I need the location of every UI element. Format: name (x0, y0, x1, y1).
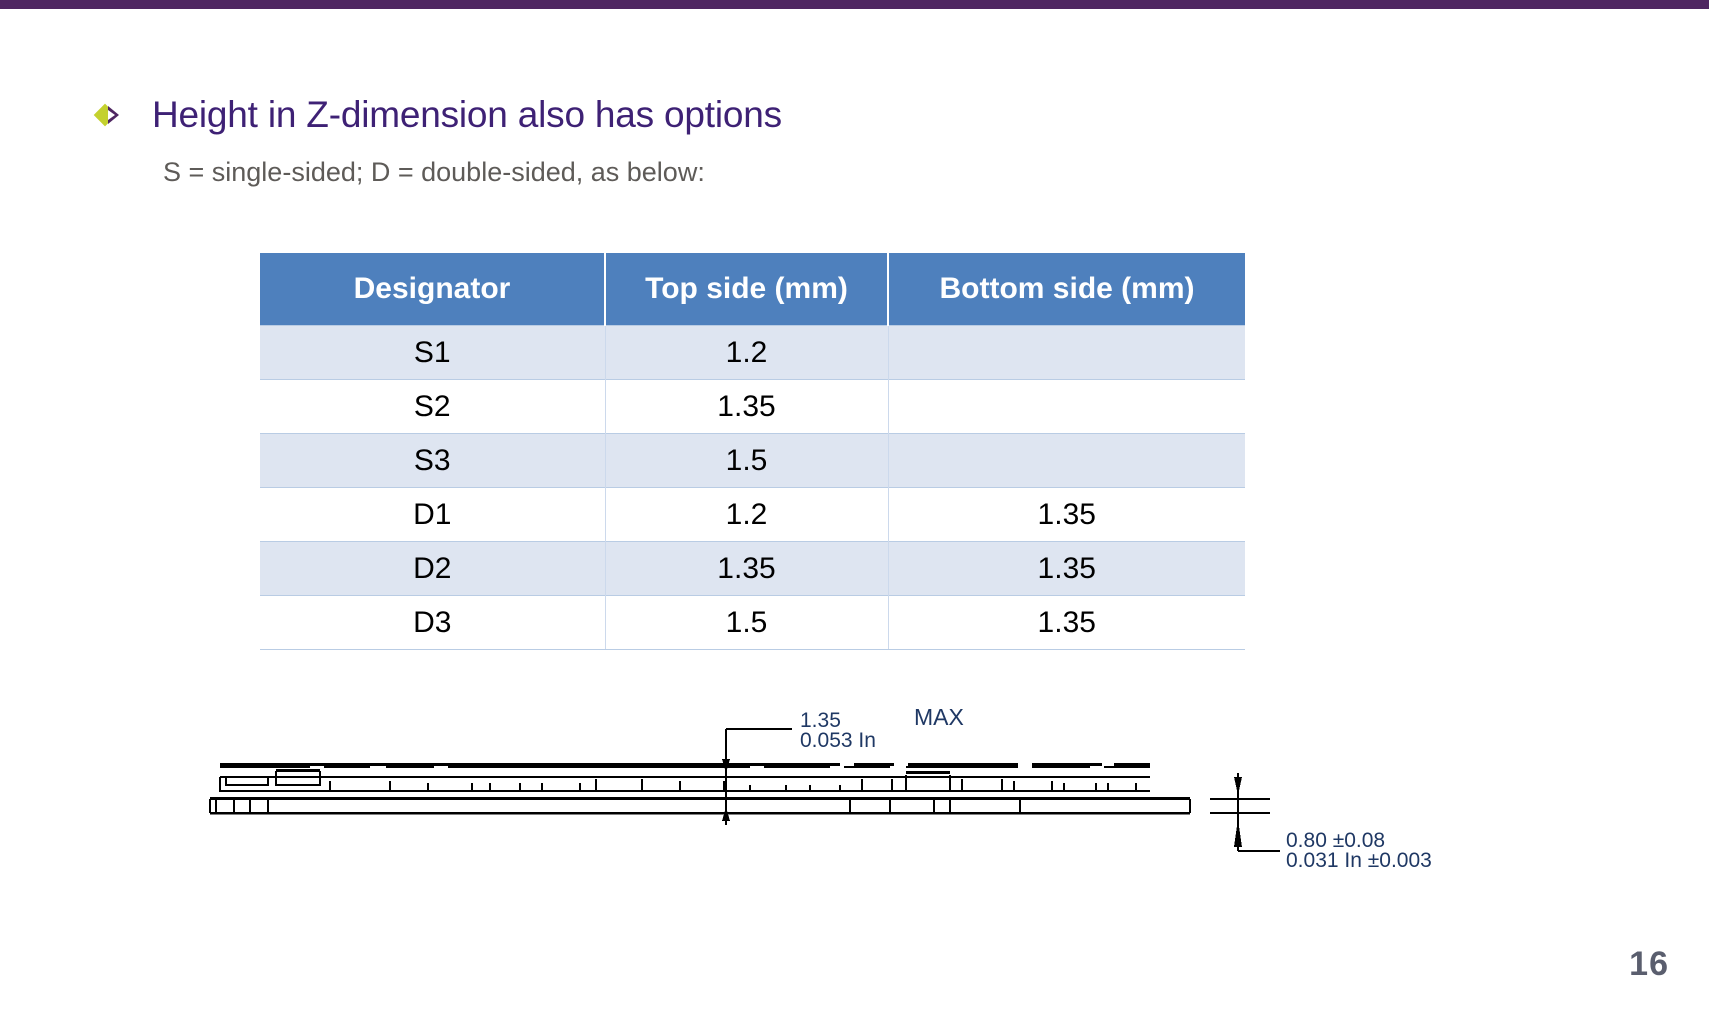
cell-designator: S2 (260, 380, 605, 434)
column-header-bottom-side: Bottom side (mm) (888, 253, 1245, 326)
cell-designator: D2 (260, 542, 605, 596)
cell-designator: S1 (260, 326, 605, 380)
board-thickness-callout-text: 0.80 ±0.08 0.031 In ±0.003 (1286, 829, 1432, 872)
cell-top-side: 1.5 (605, 596, 888, 650)
cell-designator: S3 (260, 434, 605, 488)
cell-designator: D1 (260, 488, 605, 542)
table-row: D1 1.2 1.35 (260, 488, 1245, 542)
height-options-table: Designator Top side (mm) Bottom side (mm… (260, 253, 1245, 650)
column-header-top-side: Top side (mm) (605, 253, 888, 326)
cell-top-side: 1.2 (605, 326, 888, 380)
cell-top-side: 1.35 (605, 542, 888, 596)
cell-top-side: 1.5 (605, 434, 888, 488)
column-header-designator: Designator (260, 253, 605, 326)
table-row: D2 1.35 1.35 (260, 542, 1245, 596)
slide-subtitle: S = single-sided; D = double-sided, as b… (163, 157, 705, 188)
table-header-row: Designator Top side (mm) Bottom side (mm… (260, 253, 1245, 326)
cell-top-side: 1.2 (605, 488, 888, 542)
table-row: S2 1.35 (260, 380, 1245, 434)
table-row: S1 1.2 (260, 326, 1245, 380)
cell-bottom-side: 1.35 (888, 596, 1245, 650)
cell-bottom-side: 1.35 (888, 488, 1245, 542)
cell-top-side: 1.35 (605, 380, 888, 434)
pcb-cross-section-drawing: 1.35 0.053 In MAX 0.80 ±0.08 0.031 In ±0… (190, 699, 1440, 879)
top-height-callout-text: 1.35 0.053 In MAX (800, 704, 964, 752)
slide-title-row: Height in Z-dimension also has options (96, 94, 782, 136)
page-number: 16 (1629, 945, 1669, 984)
svg-text:0.031 In ±0.003: 0.031 In ±0.003 (1286, 849, 1432, 872)
page-title: Height in Z-dimension also has options (152, 94, 782, 136)
cell-bottom-side (888, 380, 1245, 434)
cell-bottom-side: 1.35 (888, 542, 1245, 596)
cell-bottom-side (888, 434, 1245, 488)
table-row: D3 1.5 1.35 (260, 596, 1245, 650)
svg-text:0.053 In: 0.053 In (800, 729, 876, 752)
cell-designator: D3 (260, 596, 605, 650)
svg-text:MAX: MAX (914, 704, 964, 730)
diamond-chevron-icon (96, 100, 130, 130)
cell-bottom-side (888, 326, 1245, 380)
slide-accent-bar (0, 0, 1709, 9)
table-row: S3 1.5 (260, 434, 1245, 488)
slide-canvas: Height in Z-dimension also has options S… (0, 9, 1709, 1026)
